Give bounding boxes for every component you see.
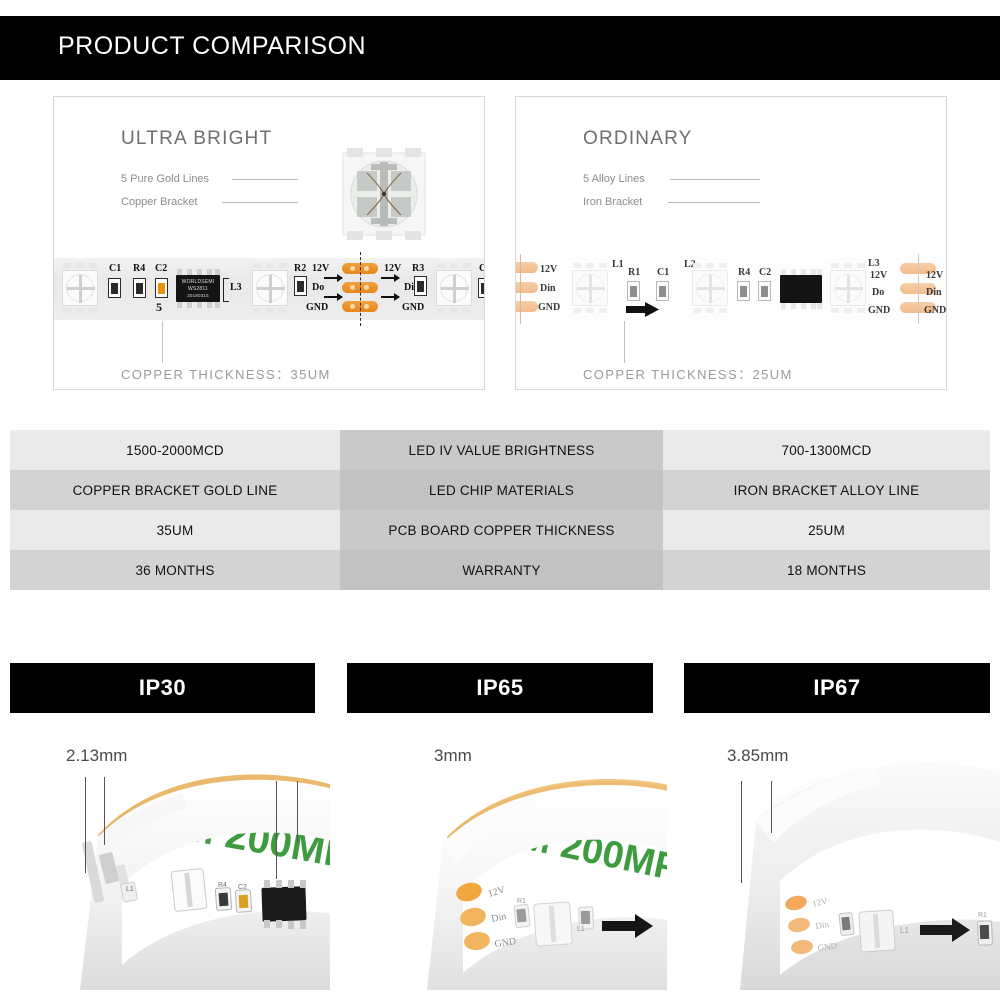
table-row: 35UM PCB BOARD COPPER THICKNESS 25UM (10, 510, 990, 550)
svg-text:R1: R1 (517, 898, 526, 905)
led-package (252, 270, 288, 306)
pcb-label-12v-left: 12V (312, 263, 329, 274)
solder-pad (515, 301, 538, 312)
led-package (830, 270, 866, 306)
pcb-label-c2: C2 (759, 267, 771, 278)
dimension-tick (771, 781, 772, 833)
led-strip-image-ultra-bright: C1 R4 C2 5 WORLDSEMI WS2811 20180315 L3 (54, 258, 484, 320)
pcb-label-c2: C2 (155, 263, 167, 274)
table-row: COPPER BRACKET GOLD LINE LED CHIP MATERI… (10, 470, 990, 510)
pcb-label-12v-right: 12V (384, 263, 401, 274)
thickness-pointer (162, 321, 163, 363)
led-package (62, 270, 98, 306)
svg-text:L1: L1 (577, 926, 585, 933)
cell-left: 35UM (10, 510, 340, 550)
cell-middle: LED IV VALUE BRIGHTNESS (340, 430, 663, 470)
cell-middle: LED CHIP MATERIALS (340, 470, 663, 510)
pcb-label-r2: R2 (294, 263, 306, 274)
svg-text:L1: L1 (126, 886, 134, 893)
led-strip-image-ordinary: 12V Din GND L1 R1 C1 L2 (516, 258, 946, 320)
copper-thickness-left: COPPER THICKNESS：35UM (121, 364, 331, 383)
copper-thickness-right: COPPER THICKNESS：25UM (583, 364, 793, 383)
ip-rating-badge: IP30 (10, 663, 315, 713)
svg-text:C2: C2 (238, 884, 247, 891)
ic-marking-line3: 20180315 (176, 293, 220, 299)
panel-title-right: ORDINARY (583, 128, 693, 150)
dimension-label-ip67: 3.85mm (727, 746, 788, 766)
cell-left: COPPER BRACKET GOLD LINE (10, 470, 340, 510)
smd-resistor (108, 278, 121, 298)
pcb-label-r1: R1 (628, 267, 640, 278)
svg-text:Din: Din (490, 911, 507, 925)
dimension-tick (276, 781, 277, 879)
led-package (572, 270, 608, 306)
thickness-pointer (624, 321, 625, 363)
pcb-label-din: Din (540, 283, 556, 294)
cell-right: IRON BRACKET ALLOY LINE (663, 470, 990, 510)
smd-resistor (478, 278, 485, 298)
infographic-root: PRODUCT COMPARISON ULTRA BRIGHT 5 Pure G… (0, 0, 1000, 1000)
pcb-label-l3: L3 (230, 282, 242, 293)
pcb-label-r4: R4 (133, 263, 145, 274)
pcb-label-din-c: Din (926, 287, 942, 298)
svg-text:L1: L1 (900, 926, 909, 935)
callout-alloy-lines: 5 Alloy Lines (583, 173, 645, 185)
pcb-label-c1: C1 (657, 267, 669, 278)
pcb-label-r3: R3 (412, 263, 424, 274)
callout-leader-line (670, 179, 760, 180)
comparison-panel-ultra-bright: ULTRA BRIGHT 5 Pure Gold Lines Copper Br… (53, 96, 485, 390)
ip-rating-badge: IP67 (684, 663, 990, 713)
smd-led-package-icon (337, 147, 431, 241)
smd-resistor (627, 281, 640, 301)
callout-copper-bracket: Copper Bracket (121, 196, 197, 208)
svg-text:12V: 12V (487, 884, 507, 900)
ic-marking-line1: WORLDSEMI (176, 279, 220, 285)
cell-left: 36 MONTHS (10, 550, 340, 590)
callout-leader-line (222, 202, 298, 203)
smd-resistor (133, 278, 146, 298)
pcb-label-do: Do (312, 282, 324, 293)
solder-pad (515, 262, 538, 273)
smd-resistor (737, 281, 750, 301)
solder-pad (515, 282, 538, 293)
smd-capacitor (656, 281, 669, 301)
pcb-label-5: 5 (156, 300, 162, 315)
pcb-label-gnd: GND (538, 302, 560, 313)
smd-resistor (294, 276, 307, 296)
pcb-label-12v-c: 12V (926, 270, 943, 281)
driver-ic (780, 275, 822, 303)
cell-middle: PCB BOARD COPPER THICKNESS (340, 510, 663, 550)
dimension-label-ip30: 2.13mm (66, 746, 127, 766)
direction-arrow-icon (626, 302, 660, 317)
svg-text:R4: R4 (218, 882, 227, 889)
dimension-tick (297, 781, 298, 843)
ip-block-ip30: IP30 (10, 663, 315, 713)
cell-right: 25UM (663, 510, 990, 550)
comparison-table: 1500-2000MCD LED IV VALUE BRIGHTNESS 700… (10, 430, 990, 590)
ip-block-ip67: IP67 (684, 663, 990, 713)
table-row: 36 MONTHS WARRANTY 18 MONTHS (10, 550, 990, 590)
pcb-label-r4: R4 (738, 267, 750, 278)
smd-capacitor (155, 278, 168, 298)
strip-photo-ip65: 3M 200MP 12V Din GND R1 L1 (347, 725, 667, 990)
cell-middle: WARRANTY (340, 550, 663, 590)
ip-block-ip65: IP65 (347, 663, 653, 713)
pcb-label-c1: C1 (109, 263, 121, 274)
pcb-label-do: Do (872, 287, 884, 298)
led-package (692, 270, 728, 306)
dimension-tick (741, 781, 742, 883)
pcb-label-gnd-left: GND (306, 302, 328, 313)
pcb-label-gnd-right: GND (402, 302, 424, 313)
pcb-label-12v: 12V (540, 264, 557, 275)
smd-resistor (414, 276, 427, 296)
svg-text:12V: 12V (811, 895, 829, 909)
led-package (436, 270, 472, 306)
pcb-label-gnd-b: GND (868, 305, 890, 316)
callout-gold-lines: 5 Pure Gold Lines (121, 173, 209, 185)
callout-leader-line (232, 179, 298, 180)
ic-marking-line2: WS2811 (176, 286, 220, 292)
cell-right: 700-1300MCD (663, 430, 990, 470)
pcb-label-gnd-c: GND (924, 305, 946, 316)
ip-rating-badge: IP65 (347, 663, 653, 713)
smd-capacitor (758, 281, 771, 301)
dimension-label-ip65: 3mm (434, 746, 472, 766)
callout-leader-line (668, 202, 760, 203)
cell-right: 18 MONTHS (663, 550, 990, 590)
pcb-label-l1: L1 (612, 259, 624, 270)
page-title: PRODUCT COMPARISON (58, 32, 366, 61)
svg-text:R1: R1 (978, 912, 987, 919)
svg-text:Din: Din (815, 919, 831, 931)
cell-left: 1500-2000MCD (10, 430, 340, 470)
table-row: 1500-2000MCD LED IV VALUE BRIGHTNESS 700… (10, 430, 990, 470)
dimension-tick (85, 777, 86, 873)
comparison-panel-ordinary: ORDINARY 5 Alloy Lines Iron Bracket (515, 96, 947, 390)
cut-line (360, 252, 361, 326)
pcb-label-c1-end: C1 (479, 263, 485, 274)
strip-photo-ip30: 3M 200MP L1 R4 (10, 725, 330, 990)
pcb-label-l3: L3 (868, 258, 880, 269)
panel-title-left: ULTRA BRIGHT (121, 128, 272, 150)
ws2811-ic: WORLDSEMI WS2811 20180315 (176, 275, 220, 302)
dimension-tick (104, 777, 105, 845)
pcb-label-12v-b: 12V (870, 270, 887, 281)
callout-iron-bracket: Iron Bracket (583, 196, 642, 208)
